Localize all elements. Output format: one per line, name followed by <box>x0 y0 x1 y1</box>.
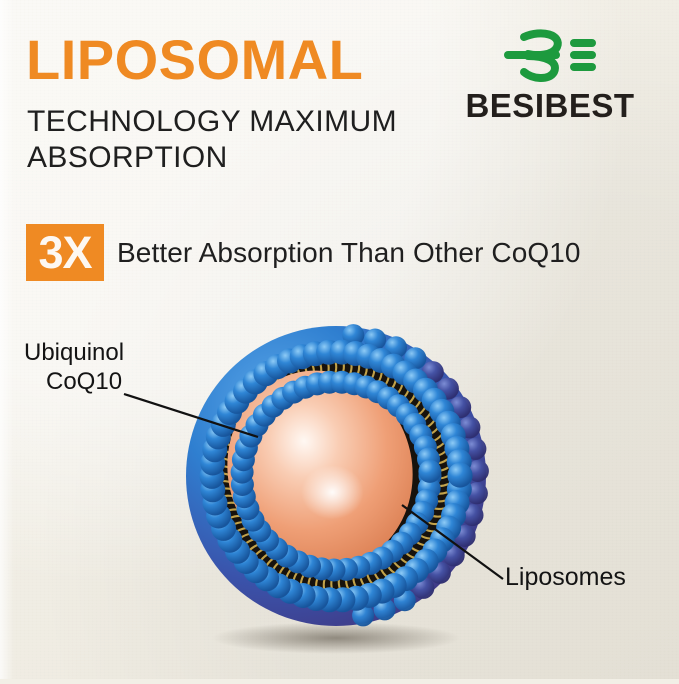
callout-ubiquinol-line-2: CoQ10 <box>24 367 124 396</box>
callout-liposomes: Liposomes <box>505 563 626 592</box>
callout-ubiquinol: Ubiquinol CoQ10 <box>24 338 124 396</box>
leader-line-liposomes <box>402 505 503 579</box>
infographic-page: LIPOSOMAL TECHNOLOGY MAXIMUM ABSORPTION <box>0 0 679 679</box>
leader-line-ubiquinol <box>124 394 258 437</box>
callout-ubiquinol-line-1: Ubiquinol <box>24 338 124 367</box>
